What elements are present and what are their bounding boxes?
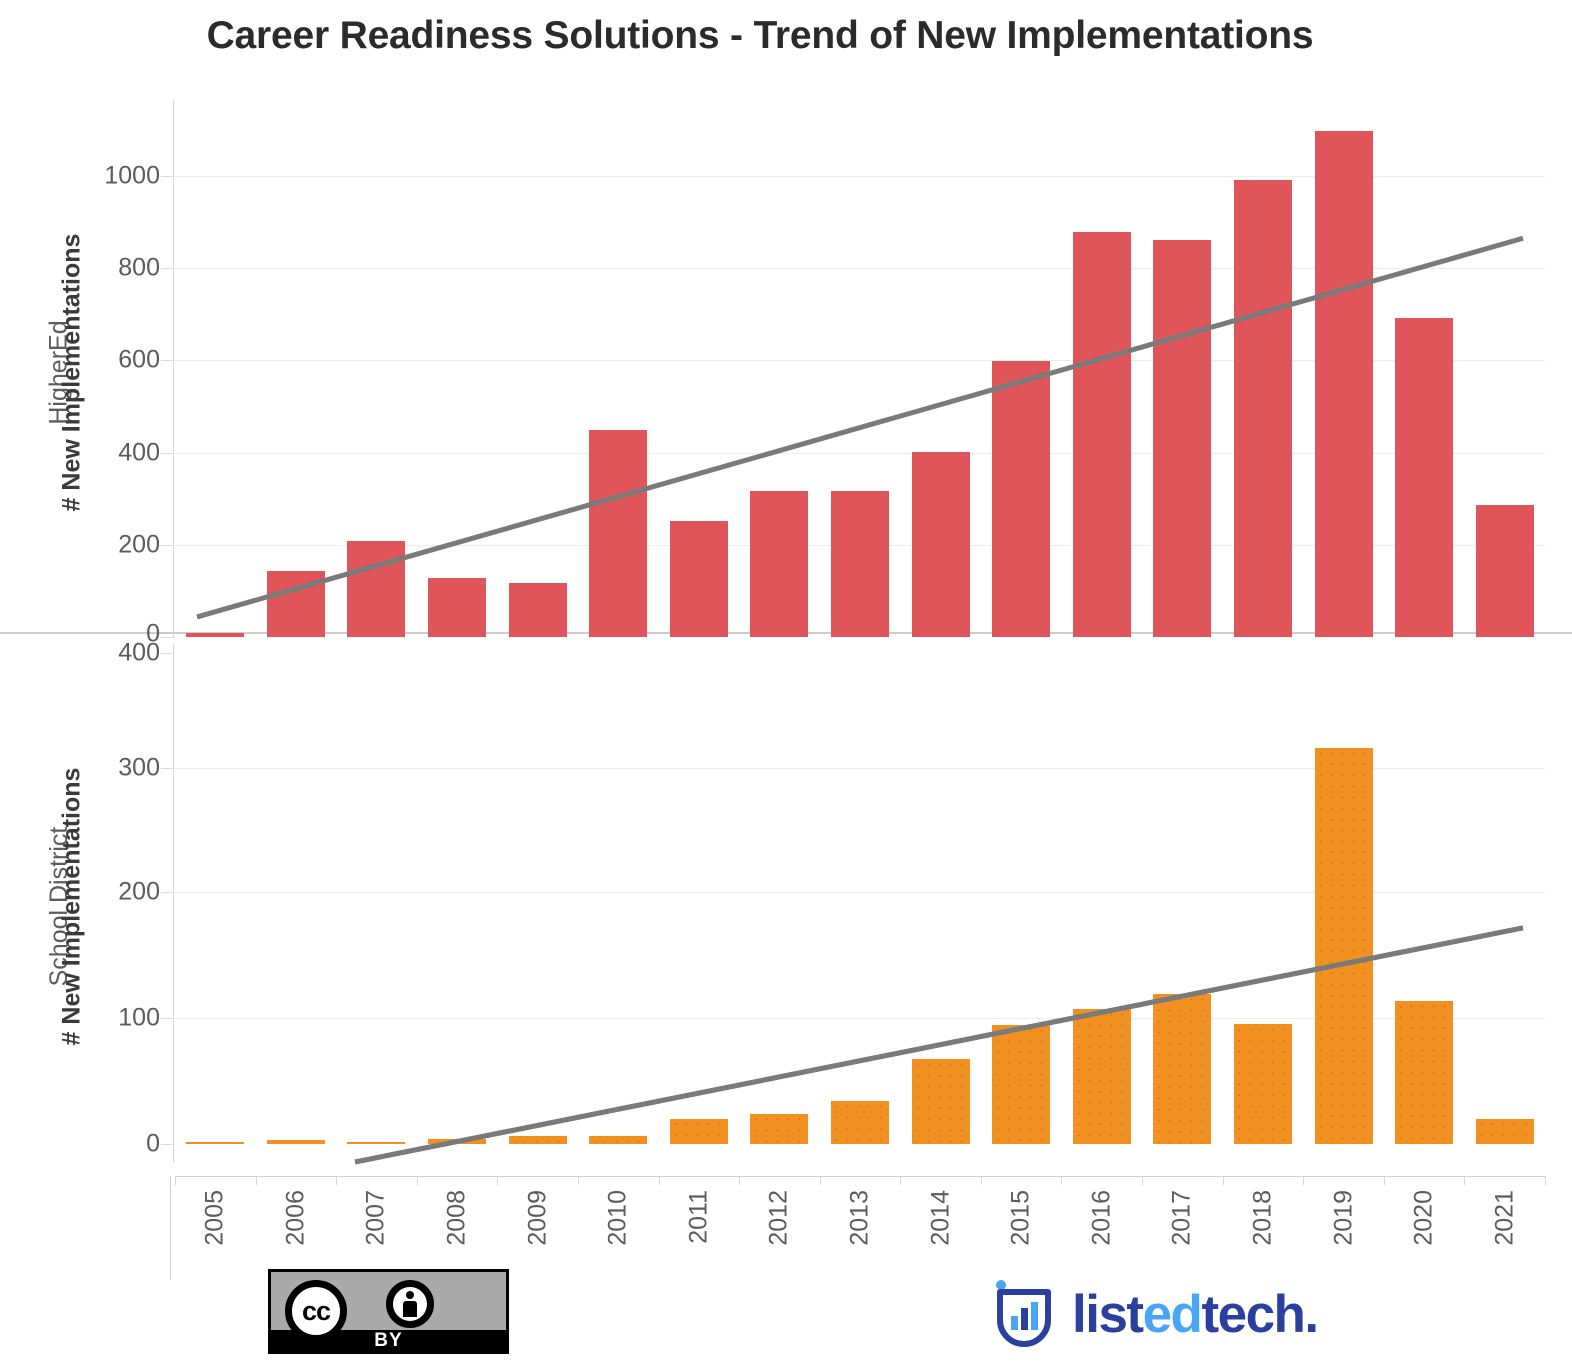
bar-2005[interactable] [186, 1142, 244, 1144]
listedtech-logo: listedtech. [988, 1274, 1318, 1354]
x-axis-label-2013: 2013 [846, 1190, 875, 1246]
bar-2010[interactable] [589, 1136, 647, 1144]
x-axis-label-2010: 2010 [604, 1190, 633, 1246]
ytick-label-1000: 1000 [40, 162, 160, 191]
bar-2007[interactable] [347, 541, 405, 637]
bar-2020[interactable] [1395, 318, 1453, 637]
bar-2010[interactable] [589, 430, 647, 637]
shield-bar-chart-icon [988, 1278, 1060, 1350]
ytick-label-400: 400 [40, 439, 160, 468]
x-tick-2005 [175, 1176, 176, 1185]
bar-2013[interactable] [831, 491, 889, 637]
ytick-label-sd-200: 200 [40, 878, 160, 907]
x-tick-2006 [256, 1176, 257, 1185]
bar-2011[interactable] [670, 1119, 728, 1144]
chart-area: HigherEd # New Implementations 1000 800 … [0, 96, 1572, 1176]
bar-2012[interactable] [750, 491, 808, 637]
bar-2011[interactable] [670, 521, 728, 637]
ytick-dash-0 [161, 637, 173, 638]
bar-2012[interactable] [750, 1114, 808, 1144]
bar-2009[interactable] [509, 583, 567, 637]
ytick-dash-sd-100 [161, 1018, 173, 1019]
ytick-dash-200 [161, 545, 173, 546]
cc-icon-text: cc [302, 1296, 330, 1327]
bar-2007[interactable] [347, 1142, 405, 1144]
ytick-dash-sd-200 [161, 892, 173, 893]
bar-2020[interactable] [1395, 1001, 1453, 1144]
bar-2009[interactable] [509, 1136, 567, 1144]
ytick-label-sd-0: 0 [40, 1130, 160, 1159]
ytick-label-sd-300: 300 [40, 754, 160, 783]
ytick-label-600: 600 [40, 346, 160, 375]
ytick-dash-1000 [161, 176, 173, 177]
x-axis-label-2005: 2005 [201, 1190, 230, 1246]
x-tick-end [1545, 1176, 1546, 1185]
x-axis-label-2021: 2021 [1490, 1190, 1519, 1246]
x-axis-label-2014: 2014 [926, 1190, 955, 1246]
person-icon-body [403, 1301, 417, 1317]
x-axis-label-2011: 2011 [684, 1190, 713, 1244]
bar-2006[interactable] [267, 571, 325, 637]
bars-highered [175, 100, 1545, 637]
bar-2019[interactable] [1315, 748, 1373, 1144]
bar-2017[interactable] [1153, 994, 1211, 1144]
page-title: Career Readiness Solutions - Trend of Ne… [0, 14, 1520, 58]
x-axis-label-2020: 2020 [1410, 1190, 1439, 1246]
bar-2015[interactable] [992, 1025, 1050, 1144]
bars-school [175, 644, 1545, 1144]
bar-2016[interactable] [1073, 232, 1131, 637]
x-axis-label-2018: 2018 [1248, 1190, 1277, 1246]
x-tick-2014 [900, 1176, 901, 1185]
x-tick-2019 [1303, 1176, 1304, 1185]
x-tick-2007 [336, 1176, 337, 1185]
ytick-label-800: 800 [40, 254, 160, 283]
person-icon-head [406, 1291, 414, 1299]
x-tick-2020 [1384, 1176, 1385, 1185]
x-axis-label-2012: 2012 [765, 1190, 794, 1246]
x-axis-label-2006: 2006 [281, 1190, 310, 1246]
logo-text-list: list [1072, 1285, 1143, 1344]
x-axis-label-2009: 2009 [523, 1190, 552, 1246]
bar-2014[interactable] [912, 1059, 970, 1144]
x-tick-2015 [981, 1176, 982, 1185]
x-tick-2011 [659, 1176, 660, 1185]
x-axis-label-2008: 2008 [443, 1190, 472, 1246]
footer: cc BY listedtech. [0, 1268, 1572, 1372]
ytick-dash-sd-300 [161, 768, 173, 769]
bar-2014[interactable] [912, 452, 970, 637]
x-tick-2018 [1223, 1176, 1224, 1185]
ytick-dash-400 [161, 453, 173, 454]
axis-rule-highered [173, 100, 174, 638]
bar-2021[interactable] [1476, 505, 1534, 637]
x-axis-label-2007: 2007 [362, 1190, 391, 1246]
x-axis-label-2019: 2019 [1329, 1190, 1358, 1246]
bar-2021[interactable] [1476, 1119, 1534, 1144]
bar-2006[interactable] [267, 1140, 325, 1144]
logo-text-tech: tech. [1201, 1285, 1317, 1344]
bar-2008[interactable] [428, 1139, 486, 1144]
panel-school: School District # New Implementations 40… [175, 644, 1545, 1162]
logo-text-ed: ed [1143, 1285, 1202, 1344]
x-axis-label-2017: 2017 [1168, 1190, 1197, 1246]
x-tick-2013 [820, 1176, 821, 1185]
axis-rule-school [173, 644, 174, 1162]
person-icon [386, 1280, 434, 1328]
bar-2013[interactable] [831, 1101, 889, 1144]
bar-2019[interactable] [1315, 131, 1373, 637]
ytick-dash-sd-400 [161, 653, 173, 654]
bar-2018[interactable] [1234, 1024, 1292, 1144]
x-tick-2017 [1142, 1176, 1143, 1185]
ytick-label-sd-100: 100 [40, 1004, 160, 1033]
ytick-dash-sd-0 [161, 1144, 173, 1145]
ytick-label-200: 200 [40, 531, 160, 560]
ytick-dash-600 [161, 360, 173, 361]
x-tick-2009 [497, 1176, 498, 1185]
cc-by-label: BY [271, 1330, 506, 1352]
x-axis-label-2015: 2015 [1007, 1190, 1036, 1246]
x-tick-2021 [1464, 1176, 1465, 1185]
bar-2015[interactable] [992, 361, 1050, 637]
x-tick-2010 [578, 1176, 579, 1185]
x-axis-label-2016: 2016 [1087, 1190, 1116, 1246]
ytick-dash-800 [161, 268, 173, 269]
listedtech-wordmark: listedtech. [1072, 1288, 1318, 1341]
cc-by-badge: cc BY [268, 1269, 509, 1354]
x-tick-2016 [1061, 1176, 1062, 1185]
bar-2017[interactable] [1153, 240, 1211, 637]
bar-2008[interactable] [428, 578, 486, 637]
bar-2018[interactable] [1234, 180, 1292, 637]
bar-2016[interactable] [1073, 1009, 1131, 1144]
panel-highered: HigherEd # New Implementations 1000 800 … [175, 100, 1545, 638]
ytick-label-sd-400: 400 [40, 639, 160, 668]
bar-2005[interactable] [186, 633, 244, 637]
x-tick-2012 [739, 1176, 740, 1185]
x-tick-2008 [417, 1176, 418, 1185]
x-axis-left-edge [170, 1176, 171, 1280]
